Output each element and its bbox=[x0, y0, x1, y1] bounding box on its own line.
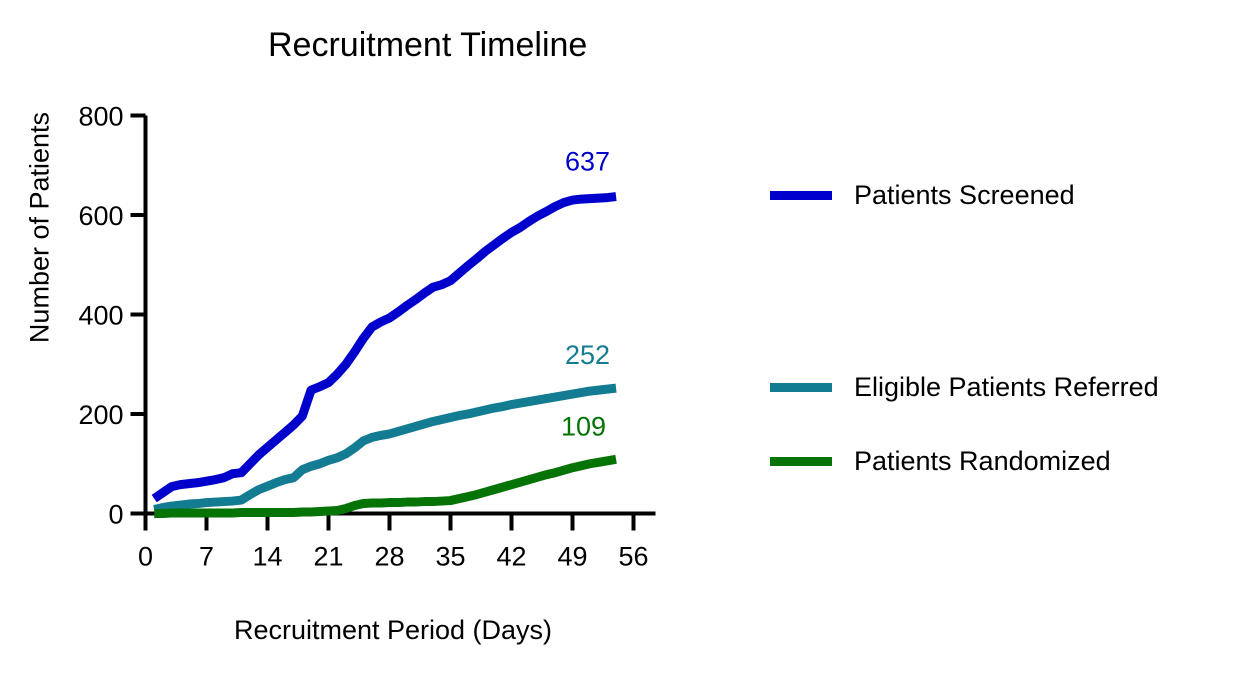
legend-label-eligible-patients-referred: Eligible Patients Referred bbox=[854, 374, 1159, 401]
legend-item-0[interactable]: Patients Screened bbox=[770, 182, 1075, 209]
series-line-0 bbox=[154, 197, 616, 499]
value-label-0: 637 bbox=[565, 147, 610, 177]
legend-item-2[interactable]: Patients Randomized bbox=[770, 448, 1111, 475]
x-tick-label: 14 bbox=[252, 542, 282, 572]
series-lines bbox=[154, 197, 616, 514]
x-tick-label: 21 bbox=[313, 542, 343, 572]
legend-swatch-eligible-patients-referred bbox=[770, 383, 832, 392]
x-tick-label: 0 bbox=[138, 542, 153, 572]
legend-label-patients-screened: Patients Screened bbox=[854, 182, 1075, 209]
y-tick-label: 400 bbox=[78, 301, 123, 331]
legend-item-1[interactable]: Eligible Patients Referred bbox=[770, 374, 1159, 401]
legend-swatch-patients-randomized bbox=[770, 457, 832, 466]
chart-canvas: Recruitment Timeline Number of Patients … bbox=[0, 0, 1246, 685]
series-line-1 bbox=[154, 388, 616, 509]
x-tick-label: 49 bbox=[557, 542, 587, 572]
value-label-2: 109 bbox=[561, 411, 606, 441]
y-tick-label: 600 bbox=[78, 201, 123, 231]
y-tick-label: 800 bbox=[78, 102, 123, 132]
x-tick-label: 35 bbox=[435, 542, 465, 572]
x-tick-label: 7 bbox=[199, 542, 214, 572]
value-label-1: 252 bbox=[565, 340, 610, 370]
x-tick-label: 28 bbox=[374, 542, 404, 572]
x-tick-label: 42 bbox=[496, 542, 526, 572]
y-tick-label: 200 bbox=[78, 400, 123, 430]
legend-swatch-patients-screened bbox=[770, 191, 832, 200]
y-tick-label: 0 bbox=[108, 500, 123, 530]
legend-label-patients-randomized: Patients Randomized bbox=[854, 448, 1111, 475]
x-tick-label: 56 bbox=[618, 542, 648, 572]
legend: Patients Screened Eligible Patients Refe… bbox=[770, 0, 1240, 685]
